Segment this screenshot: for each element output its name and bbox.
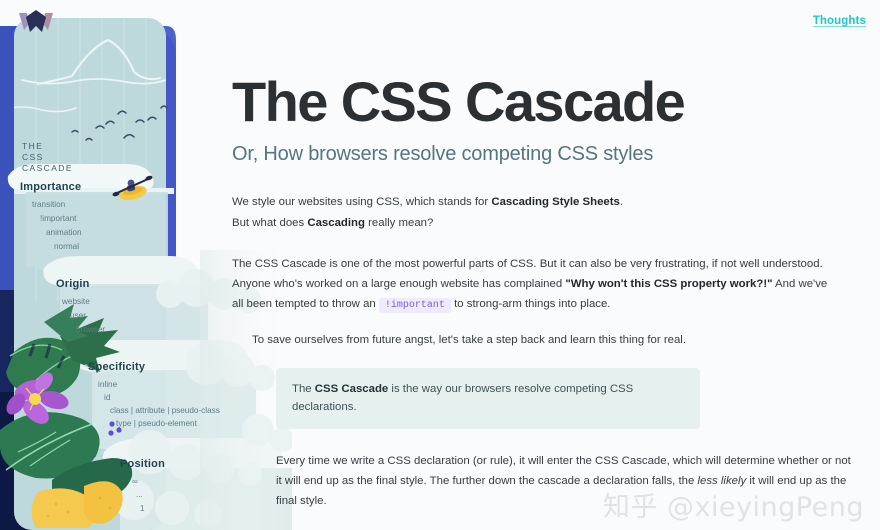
- important-code-chip: !important: [379, 298, 451, 313]
- mountain-logo[interactable]: [16, 8, 56, 36]
- brand-line-2: CASCADE: [22, 163, 73, 173]
- intro-paragraph: We style our websites using CSS, which s…: [232, 192, 834, 234]
- article-content: The CSS Cascade Or, How browsers resolve…: [228, 0, 880, 530]
- intro-strong: Cascading Style Sheets: [491, 196, 620, 208]
- tier-item: ...: [136, 490, 143, 499]
- nav-link-thoughts[interactable]: Thoughts: [813, 15, 866, 27]
- tier-item: class | attribute | pseudo-class: [110, 406, 220, 415]
- tier-item: website: [61, 297, 90, 306]
- cascade-explainer-paragraph: The CSS Cascade is one of the most power…: [232, 254, 834, 316]
- intro-strong-2: Cascading: [307, 217, 365, 229]
- page-root: THE CSS CASCADE Importance transition !i…: [0, 0, 880, 530]
- page-title: The CSS Cascade: [232, 74, 854, 130]
- tier-item: type | pseudo-element: [116, 419, 198, 428]
- tier-item: 1: [140, 504, 145, 513]
- tier-title-position: Position: [120, 458, 165, 470]
- tier-item: browser: [76, 325, 105, 334]
- tier-title-importance: Importance: [20, 181, 81, 193]
- intro-text-d: But what does: [232, 217, 307, 229]
- tier-item: id: [104, 393, 111, 402]
- explainer-quote: "Why won't this CSS property work?!": [565, 278, 772, 290]
- less-likely-emphasis: less likely: [697, 475, 746, 487]
- intro-text-a: We style our websites using CSS, which s…: [232, 196, 491, 208]
- tier-item: !important: [40, 214, 77, 223]
- page-subtitle: Or, How browsers resolve competing CSS s…: [232, 143, 854, 166]
- explainer-text-d: to strong-arm things into place.: [451, 298, 611, 310]
- intro-text-f: really mean?: [365, 217, 433, 229]
- tier-item: inline: [98, 380, 118, 389]
- definition-callout: The CSS Cascade is the way our browsers …: [276, 368, 700, 429]
- intro-text-c: .: [620, 196, 623, 208]
- callout-text-a: The: [292, 383, 315, 395]
- brand-line-0: THE: [22, 141, 43, 151]
- brand-line-1: CSS: [22, 152, 44, 162]
- tier-item: transition: [32, 200, 66, 209]
- tier-item: ∞: [132, 477, 138, 486]
- tier-item: animation: [46, 228, 82, 237]
- tier-item: normal: [54, 242, 79, 251]
- every-time-paragraph: Every time we write a CSS declaration (o…: [276, 451, 854, 511]
- save-ourselves-paragraph: To save ourselves from future angst, let…: [252, 330, 854, 350]
- tier-title-specificity: Specificity: [88, 361, 146, 373]
- tier-title-origin: Origin: [56, 278, 90, 290]
- tier-item: user: [70, 311, 86, 320]
- callout-strong: CSS Cascade: [315, 383, 388, 395]
